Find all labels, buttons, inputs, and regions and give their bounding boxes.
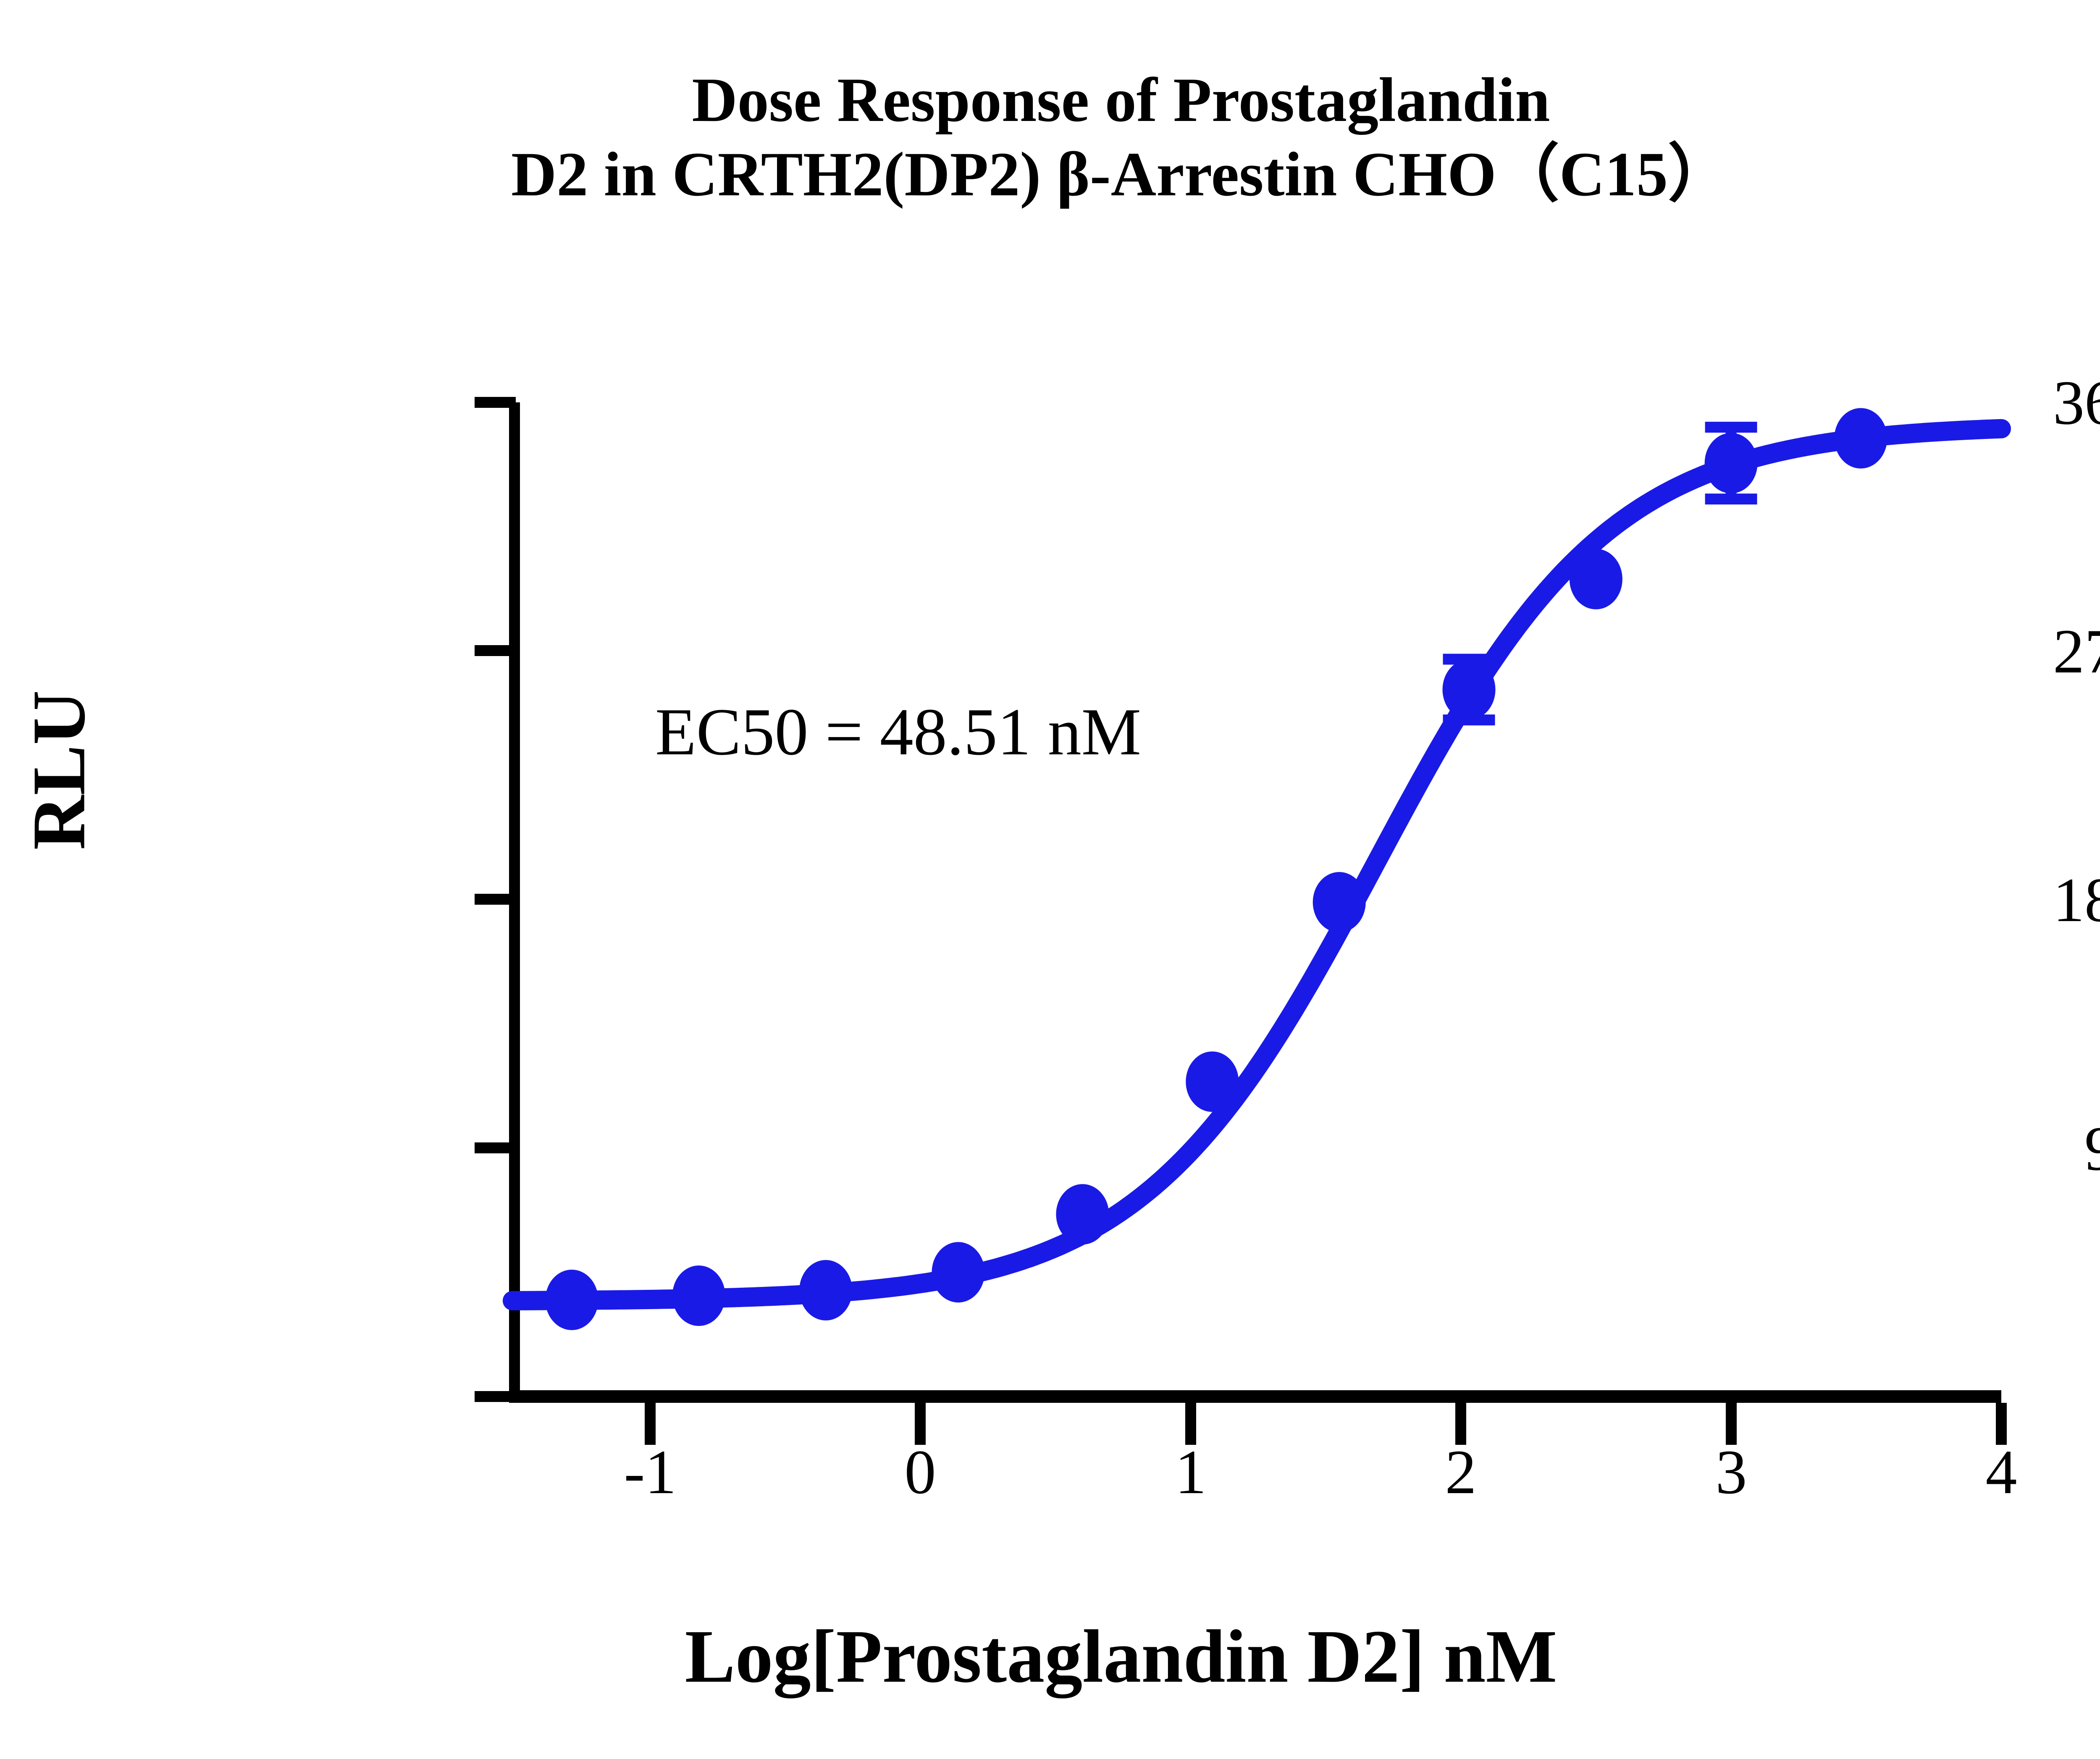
data-points-group (545, 408, 1887, 1330)
x-axis-ticks (650, 1403, 2001, 1445)
data-point (545, 1270, 598, 1330)
data-point (932, 1242, 985, 1302)
data-point (1570, 549, 1622, 609)
fit-curve (512, 429, 2001, 1301)
data-point (1056, 1184, 1109, 1244)
data-point (672, 1265, 725, 1326)
data-point (1313, 872, 1366, 932)
data-point (1443, 659, 1496, 720)
data-point (1705, 433, 1758, 494)
data-point (1186, 1051, 1239, 1112)
chart-canvas (0, 0, 2100, 1759)
chart-page: Dose Response of Prostaglandin D2 in CRT… (0, 0, 2100, 1759)
data-point (1834, 408, 1887, 469)
data-point (799, 1260, 852, 1321)
axis-spines (509, 402, 2001, 1397)
